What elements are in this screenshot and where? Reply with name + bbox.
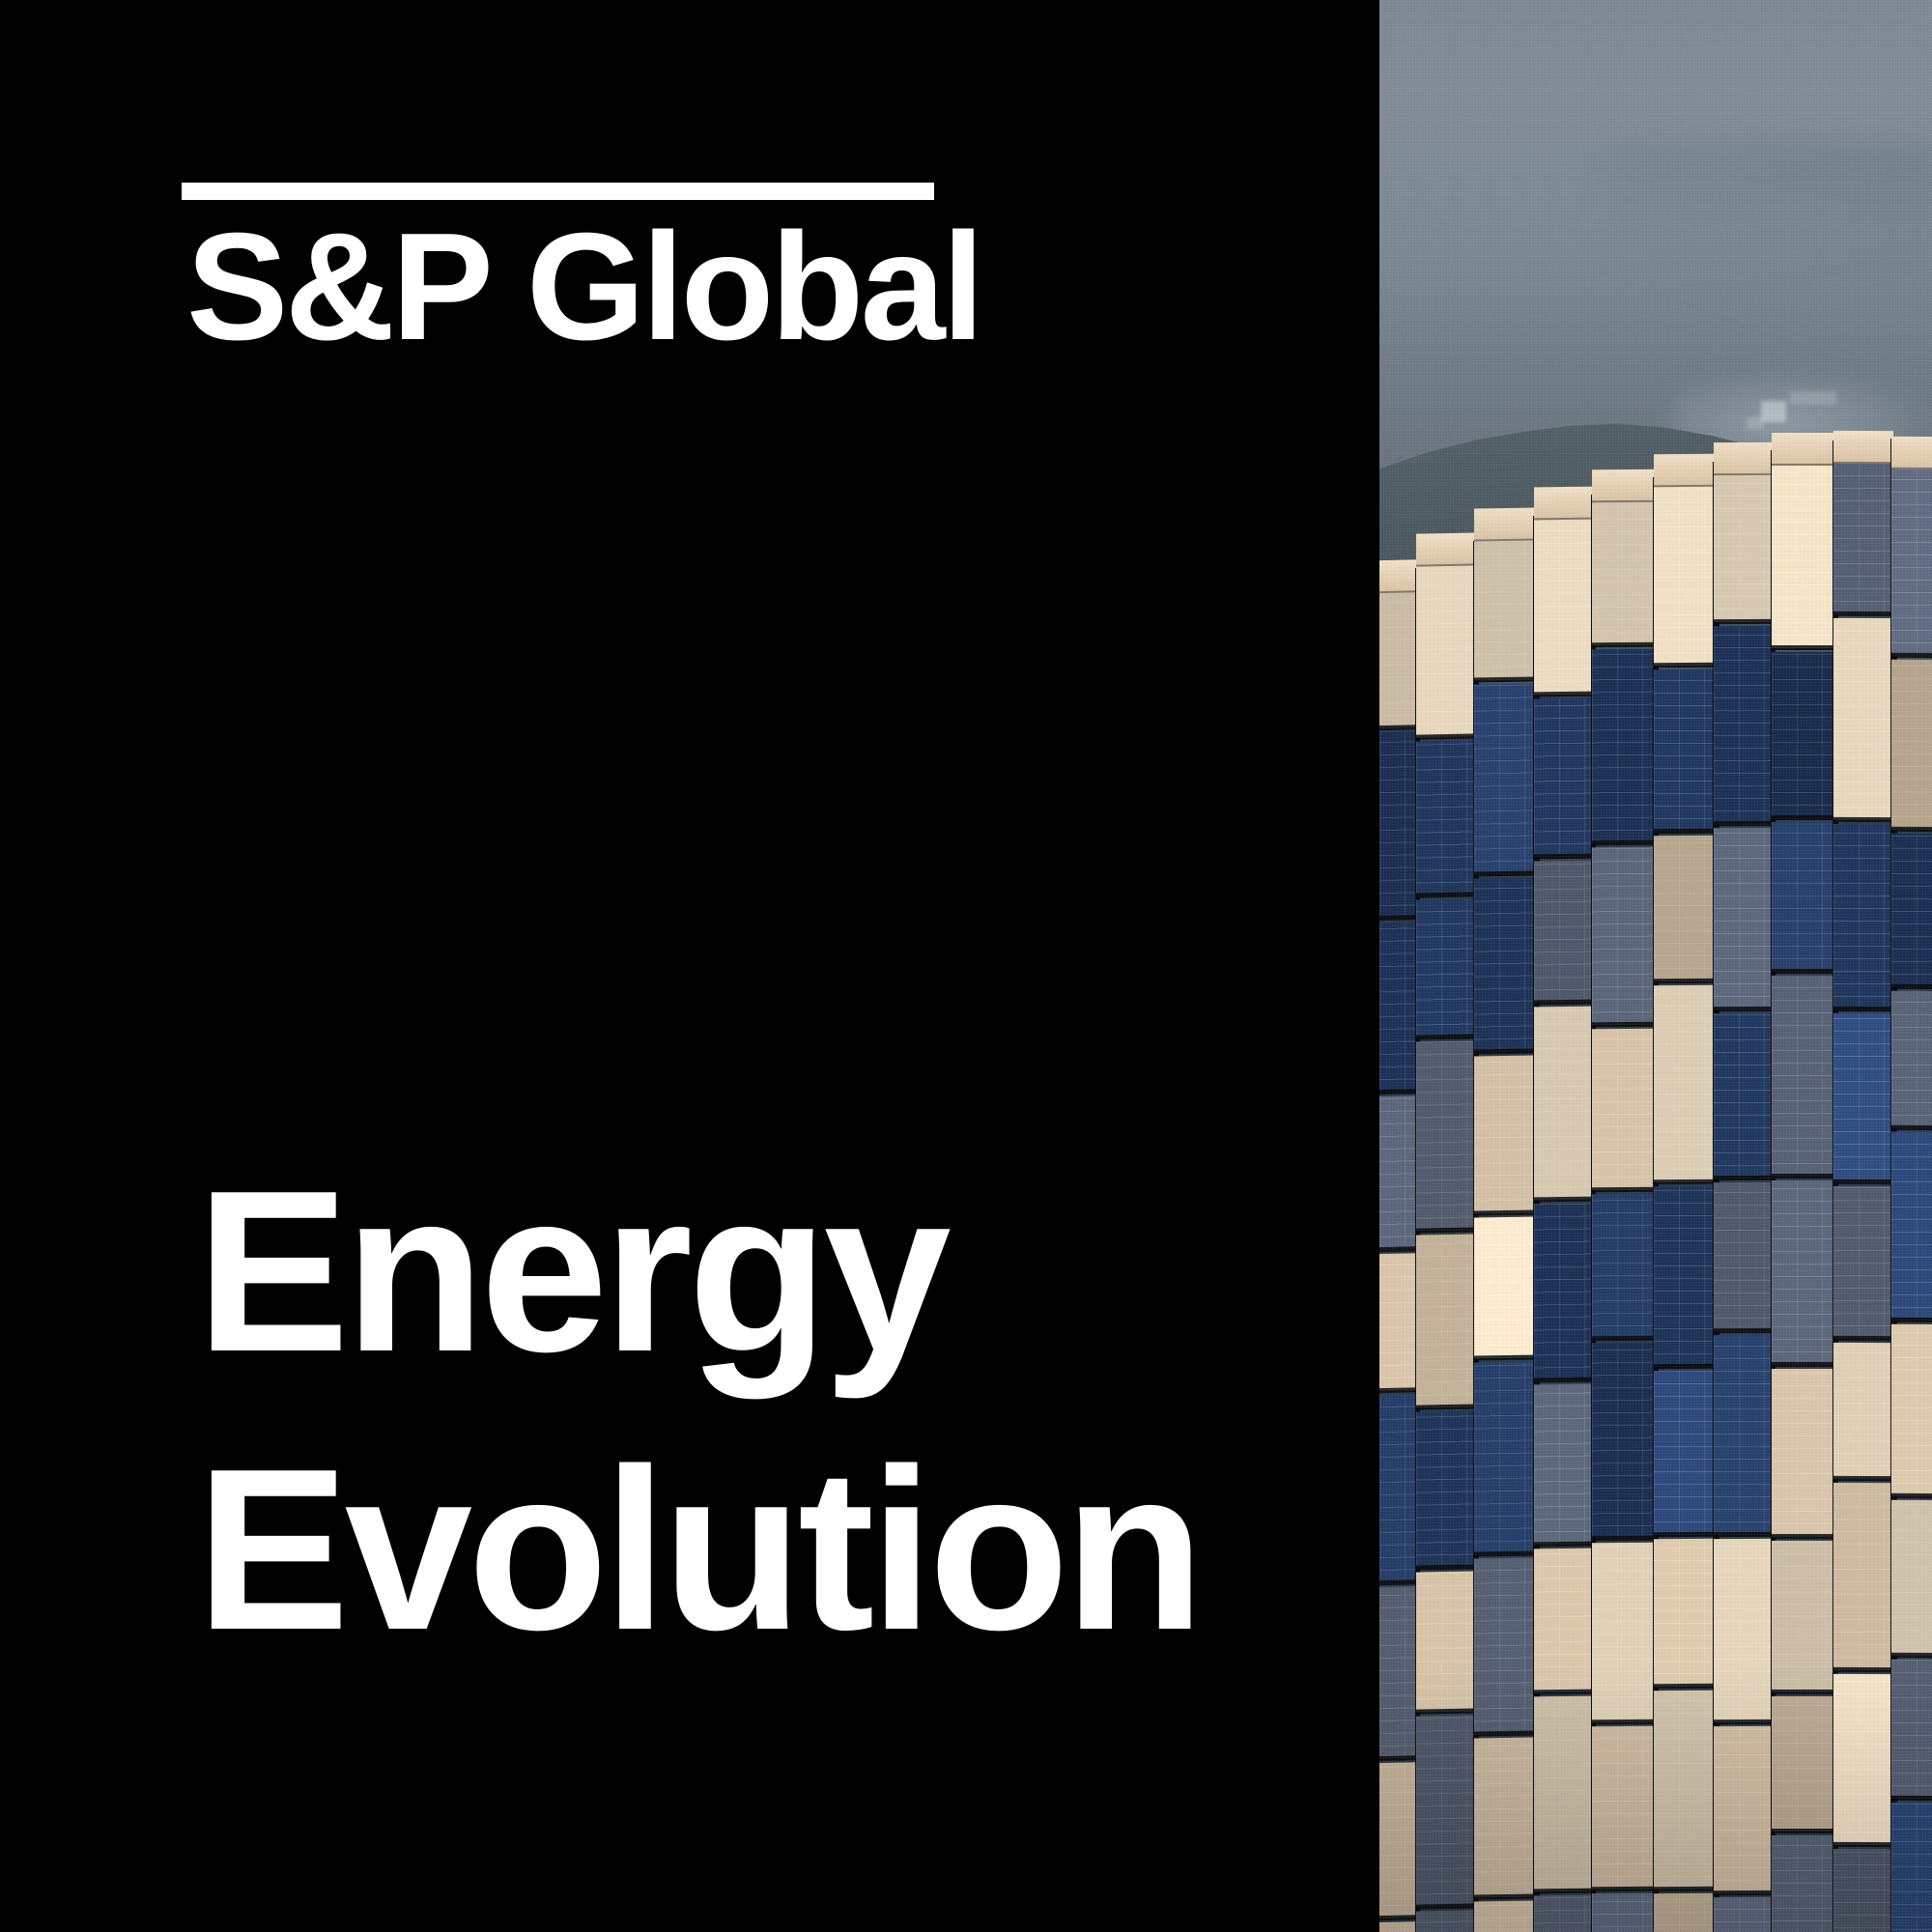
- brand-name: S&P Global: [186, 232, 935, 342]
- panel-seam: [1592, 1536, 1656, 1542]
- panel-seam: [1833, 1842, 1893, 1847]
- solar-panel-tile: [1534, 1204, 1594, 1381]
- solar-panel-tile: [1416, 1571, 1476, 1712]
- facade-column: [1772, 415, 1835, 1932]
- solar-panel-tile: [1772, 1541, 1835, 1692]
- distant-ridge: [1611, 145, 1932, 367]
- solar-panel-tile: [1891, 991, 1932, 1128]
- solar-panel-tile: [1891, 1132, 1932, 1321]
- solar-panel-tile: [1592, 1194, 1656, 1340]
- solar-panel-tile: [1833, 1343, 1893, 1479]
- solar-panel-tile: [1714, 1897, 1774, 1932]
- panel-seam: [1592, 840, 1656, 846]
- panel-seam: [1654, 1179, 1716, 1184]
- panel-seam: [1534, 1197, 1594, 1203]
- solar-panel-tile: [1772, 1835, 1835, 1932]
- panel-seam: [1474, 870, 1536, 876]
- solar-panel-tile: [1833, 464, 1893, 614]
- title-line-1: Energy: [196, 1133, 1200, 1411]
- solar-panel-tile: [1714, 1182, 1774, 1331]
- solar-panel-tile: [1416, 740, 1476, 895]
- panel-seam: [1534, 692, 1594, 697]
- panel-seam: [1772, 1690, 1835, 1694]
- panel-seam: [1379, 915, 1418, 921]
- panel-seam: [1534, 1690, 1594, 1695]
- solar-panel-tile: [1714, 1335, 1774, 1535]
- panel-seam: [1416, 1034, 1476, 1039]
- solar-panel-tile: [1714, 626, 1774, 824]
- panel-seam: [1416, 1903, 1476, 1909]
- title-panel: S&P Global Energy Evolution: [0, 0, 1379, 1932]
- facade-roof-cap: [1534, 487, 1594, 521]
- solar-panel-tile: [1714, 475, 1774, 622]
- solar-panel-tile: [1416, 1910, 1476, 1932]
- panel-seam: [1833, 1476, 1893, 1481]
- solar-panel-tile: [1592, 649, 1656, 844]
- solar-panel-tile: [1416, 1410, 1476, 1568]
- panel-seam: [1654, 1532, 1716, 1537]
- panel-seam: [1833, 817, 1893, 822]
- panel-seam: [1654, 1887, 1716, 1891]
- facade-column: [1474, 414, 1536, 1932]
- facade-roof-cap: [1891, 437, 1932, 469]
- panel-seam: [1833, 1336, 1893, 1341]
- solar-panel-tile: [1379, 1095, 1418, 1250]
- solar-panel-tile: [1714, 1726, 1774, 1893]
- solar-panel-tile: [1891, 834, 1932, 987]
- solar-panel-tile: [1474, 540, 1536, 680]
- solar-panel-tile: [1534, 861, 1594, 1004]
- panel-seam: [1714, 1328, 1774, 1333]
- solar-panel-tile: [1379, 1253, 1418, 1391]
- panel-seam: [1714, 1719, 1774, 1724]
- panel-seam: [1772, 815, 1835, 820]
- solar-panel-tile: [1474, 1737, 1536, 1897]
- facade-column: [1891, 415, 1932, 1932]
- panel-seam: [1474, 1730, 1536, 1736]
- panel-seam: [1891, 1125, 1932, 1130]
- brand-rule-divider: [182, 183, 934, 200]
- title-line-2: Evolution: [196, 1411, 1200, 1690]
- panel-seam: [1592, 1022, 1656, 1028]
- solar-panel-tile: [1714, 1013, 1774, 1179]
- solar-panel-tile: [1654, 669, 1716, 832]
- panel-seam: [1534, 1378, 1594, 1383]
- panel-seam: [1772, 1829, 1835, 1833]
- facade-roof-cap: [1654, 454, 1716, 487]
- panel-seam: [1772, 1174, 1835, 1179]
- solar-panel-tile: [1833, 1186, 1893, 1339]
- solar-panel-tile: [1474, 1557, 1536, 1734]
- panel-seam: [1891, 1653, 1932, 1658]
- facade-roof-cap: [1592, 469, 1656, 503]
- panel-seam: [1534, 1889, 1594, 1894]
- panel-seam: [1891, 1493, 1932, 1498]
- solar-panel-tile: [1592, 1029, 1656, 1191]
- solar-panel-tile: [1654, 1186, 1716, 1367]
- solar-panel-tile: [1833, 1013, 1893, 1182]
- podcast-cover-art: S&P Global Energy Evolution: [0, 0, 1932, 1932]
- solar-panel-tile: [1891, 1803, 1932, 1932]
- panel-seam: [1474, 676, 1536, 682]
- solar-panel-tile: [1416, 565, 1476, 737]
- facade-column: [1714, 415, 1774, 1932]
- solar-panel-tile: [1379, 1394, 1418, 1583]
- solar-panel-tile: [1654, 836, 1716, 981]
- facade-column: [1592, 415, 1656, 1932]
- solar-panel-tile: [1534, 520, 1594, 696]
- panel-seam: [1534, 1000, 1594, 1006]
- solar-panel-tile: [1654, 1371, 1716, 1535]
- solar-panel-tile: [1534, 1384, 1594, 1546]
- panel-seam: [1833, 1667, 1893, 1672]
- panel-seam: [1416, 1404, 1476, 1409]
- facade-column: [1534, 415, 1594, 1932]
- panel-seam: [1416, 1708, 1476, 1714]
- solar-panel-tile: [1891, 1500, 1932, 1656]
- solar-panel-tile: [1891, 1324, 1932, 1496]
- solar-panel-tile: [1592, 1543, 1656, 1723]
- solar-panel-facade: [1379, 415, 1932, 1932]
- solar-panel-tile: [1772, 466, 1835, 648]
- solar-panel-tile: [1654, 1539, 1716, 1687]
- solar-panel-tile: [1592, 847, 1656, 1026]
- panel-seam: [1654, 1684, 1716, 1689]
- panel-seam: [1474, 1048, 1536, 1054]
- panel-seam: [1379, 1755, 1418, 1761]
- solar-panel-tile: [1534, 698, 1594, 858]
- panel-seam: [1592, 1887, 1656, 1892]
- facade-roof-cap: [1833, 431, 1893, 464]
- solar-panel-tile: [1833, 1849, 1893, 1932]
- panel-seam: [1416, 892, 1476, 897]
- solar-panel-tile: [1772, 1696, 1835, 1832]
- panel-seam: [1654, 829, 1716, 834]
- solar-panel-tile: [1891, 469, 1932, 656]
- panel-seam: [1714, 821, 1774, 826]
- solar-panel-tile: [1833, 618, 1893, 820]
- solar-panel-tile: [1379, 592, 1418, 728]
- panel-seam: [1379, 724, 1418, 730]
- panel-seam: [1379, 1246, 1418, 1252]
- panel-seam: [1891, 653, 1932, 658]
- solar-panel-tile: [1654, 1893, 1716, 1932]
- panel-seam: [1714, 619, 1774, 624]
- panel-seam: [1592, 642, 1656, 648]
- solar-panel-tile: [1833, 1674, 1893, 1845]
- valley-building-b: [1790, 391, 1836, 405]
- solar-panel-tile: [1592, 1343, 1656, 1540]
- panel-seam: [1833, 1007, 1893, 1011]
- solar-panel-tile: [1714, 1539, 1774, 1722]
- solar-panel-tile: [1379, 1762, 1418, 1918]
- solar-panel-tile: [1534, 1548, 1594, 1693]
- facade-column: [1416, 414, 1476, 1932]
- solar-panel-tile: [1474, 683, 1536, 874]
- panel-seam: [1592, 1336, 1656, 1342]
- solar-panel-tile: [1379, 731, 1418, 919]
- facade-roof-cap: [1416, 532, 1476, 566]
- panel-seam: [1379, 1579, 1418, 1585]
- panel-seam: [1534, 854, 1594, 860]
- solar-panel-tile: [1534, 1007, 1594, 1201]
- solar-panel-tile: [1772, 822, 1835, 972]
- solar-panel-tile: [1379, 1586, 1418, 1759]
- panel-seam: [1534, 1542, 1594, 1548]
- panel-seam: [1891, 1796, 1932, 1801]
- facade-column: [1379, 414, 1418, 1932]
- panel-seam: [1772, 1534, 1835, 1539]
- cover-photograph: [1379, 0, 1932, 1932]
- facade-roof-cap: [1379, 559, 1418, 593]
- panel-seam: [1592, 1187, 1656, 1193]
- panel-seam: [1714, 1890, 1774, 1895]
- solar-panel-tile: [1654, 985, 1716, 1182]
- panel-seam: [1654, 663, 1716, 668]
- solar-panel-tile: [1592, 502, 1656, 646]
- panel-seam: [1416, 733, 1476, 739]
- panel-seam: [1654, 1364, 1716, 1369]
- panel-seam: [1891, 984, 1932, 989]
- facade-column: [1654, 415, 1716, 1932]
- solar-panel-tile: [1833, 824, 1893, 1009]
- panel-seam: [1474, 1893, 1536, 1899]
- solar-panel-tile: [1474, 1055, 1536, 1213]
- panel-seam: [1833, 1179, 1893, 1184]
- solar-panel-tile: [1416, 898, 1476, 1037]
- solar-panel-tile: [1474, 1216, 1536, 1358]
- solar-panel-tile: [1833, 1483, 1893, 1670]
- solar-panel-tile: [1474, 877, 1536, 1052]
- panel-seam: [1592, 1719, 1656, 1725]
- solar-panel-tile: [1379, 1921, 1418, 1932]
- solar-panel-tile: [1772, 1369, 1835, 1537]
- panel-seam: [1379, 1387, 1418, 1393]
- solar-panel-tile: [1416, 1234, 1476, 1407]
- panel-seam: [1474, 1354, 1536, 1360]
- panel-seam: [1714, 1532, 1774, 1537]
- solar-panel-tile: [1534, 1895, 1594, 1932]
- panel-seam: [1891, 827, 1932, 832]
- solar-panel-tile: [1592, 1726, 1656, 1890]
- page-title: Energy Evolution: [196, 1133, 1200, 1690]
- panel-seam: [1379, 1915, 1418, 1920]
- panel-seam: [1833, 611, 1893, 616]
- solar-panel-tile: [1474, 1361, 1536, 1554]
- solar-panel-tile: [1772, 976, 1835, 1177]
- panel-seam: [1416, 1227, 1476, 1233]
- solar-panel-tile: [1891, 1660, 1932, 1799]
- panel-seam: [1772, 645, 1835, 650]
- panel-seam: [1714, 1176, 1774, 1180]
- panel-seam: [1416, 1564, 1476, 1570]
- panel-seam: [1772, 1362, 1835, 1367]
- solar-panel-tile: [1772, 652, 1835, 818]
- solar-panel-tile: [1416, 1715, 1476, 1907]
- panel-seam: [1891, 1318, 1932, 1322]
- solar-panel-tile: [1891, 660, 1932, 830]
- solar-panel-tile: [1654, 487, 1716, 666]
- solar-panel-tile: [1654, 1690, 1716, 1889]
- facade-roof-cap: [1714, 442, 1774, 475]
- panel-seam: [1474, 1209, 1536, 1215]
- solar-panel-tile: [1592, 1893, 1656, 1932]
- solar-panel-tile: [1474, 1900, 1536, 1932]
- solar-panel-tile: [1772, 1180, 1835, 1365]
- panel-seam: [1379, 1089, 1418, 1094]
- panel-seam: [1714, 1007, 1774, 1011]
- facade-roof-cap: [1772, 433, 1835, 466]
- facade-column: [1833, 415, 1893, 1932]
- facade-roof-cap: [1474, 507, 1536, 541]
- solar-panel-tile: [1534, 1696, 1594, 1892]
- solar-panel-tile: [1379, 922, 1418, 1093]
- solar-panel-tile: [1714, 828, 1774, 1009]
- panel-seam: [1654, 979, 1716, 983]
- brand-lockup: S&P Global: [182, 183, 935, 342]
- panel-seam: [1772, 969, 1835, 974]
- panel-seam: [1474, 1550, 1536, 1556]
- solar-panel-tile: [1416, 1040, 1476, 1231]
